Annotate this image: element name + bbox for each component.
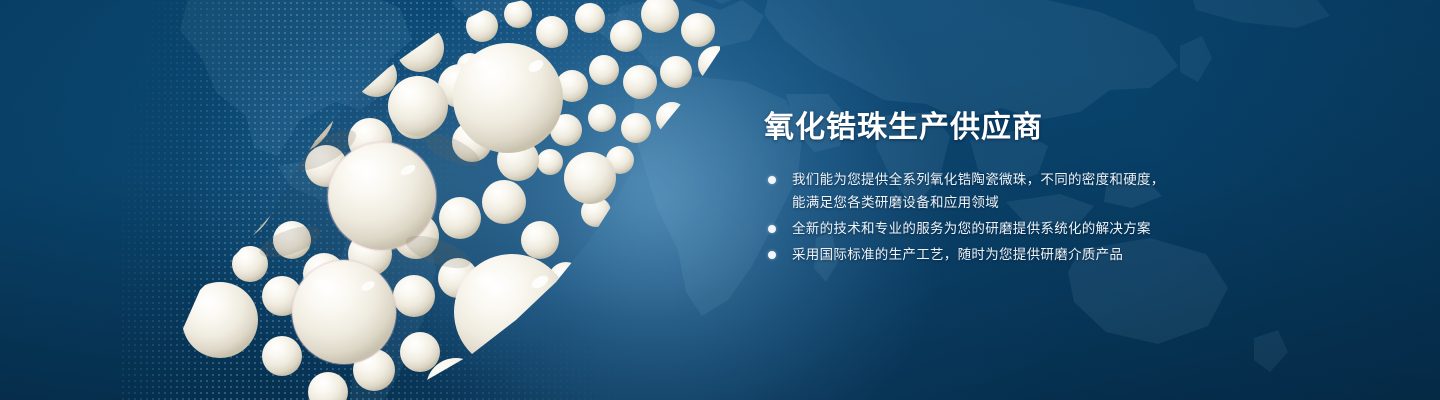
- list-item-line-1: 我们能为您提供全系列氧化锆陶瓷微珠，不同的密度和硬度，: [792, 172, 1165, 187]
- bullet-dot-icon: [768, 225, 776, 233]
- page-title: 氧化锆珠生产供应商: [764, 109, 1043, 147]
- list-item: 我们能为您提供全系列氧化锆陶瓷微珠，不同的密度和硬度， 能满足您各类研磨设备和应…: [766, 168, 1236, 214]
- banner-text-block: 氧化锆珠生产供应商 我们能为您提供全系列氧化锆陶瓷微珠，不同的密度和硬度， 能满…: [764, 0, 1384, 400]
- feature-list: 我们能为您提供全系列氧化锆陶瓷微珠，不同的密度和硬度， 能满足您各类研磨设备和应…: [766, 168, 1236, 269]
- list-item: 采用国际标准的生产工艺，随时为您提供研磨介质产品: [766, 243, 1236, 266]
- list-item-line-1: 采用国际标准的生产工艺，随时为您提供研磨介质产品: [792, 247, 1123, 262]
- hero-banner: 氧化锆珠生产供应商 我们能为您提供全系列氧化锆陶瓷微珠，不同的密度和硬度， 能满…: [0, 0, 1440, 400]
- list-item-line-1: 全新的技术和专业的服务为您的研磨提供系统化的解决方案: [792, 221, 1151, 236]
- list-item: 全新的技术和专业的服务为您的研磨提供系统化的解决方案: [766, 217, 1236, 240]
- bullet-dot-icon: [768, 176, 776, 184]
- list-item-line-2: 能满足您各类研磨设备和应用领域: [792, 191, 1236, 214]
- bullet-dot-icon: [768, 251, 776, 259]
